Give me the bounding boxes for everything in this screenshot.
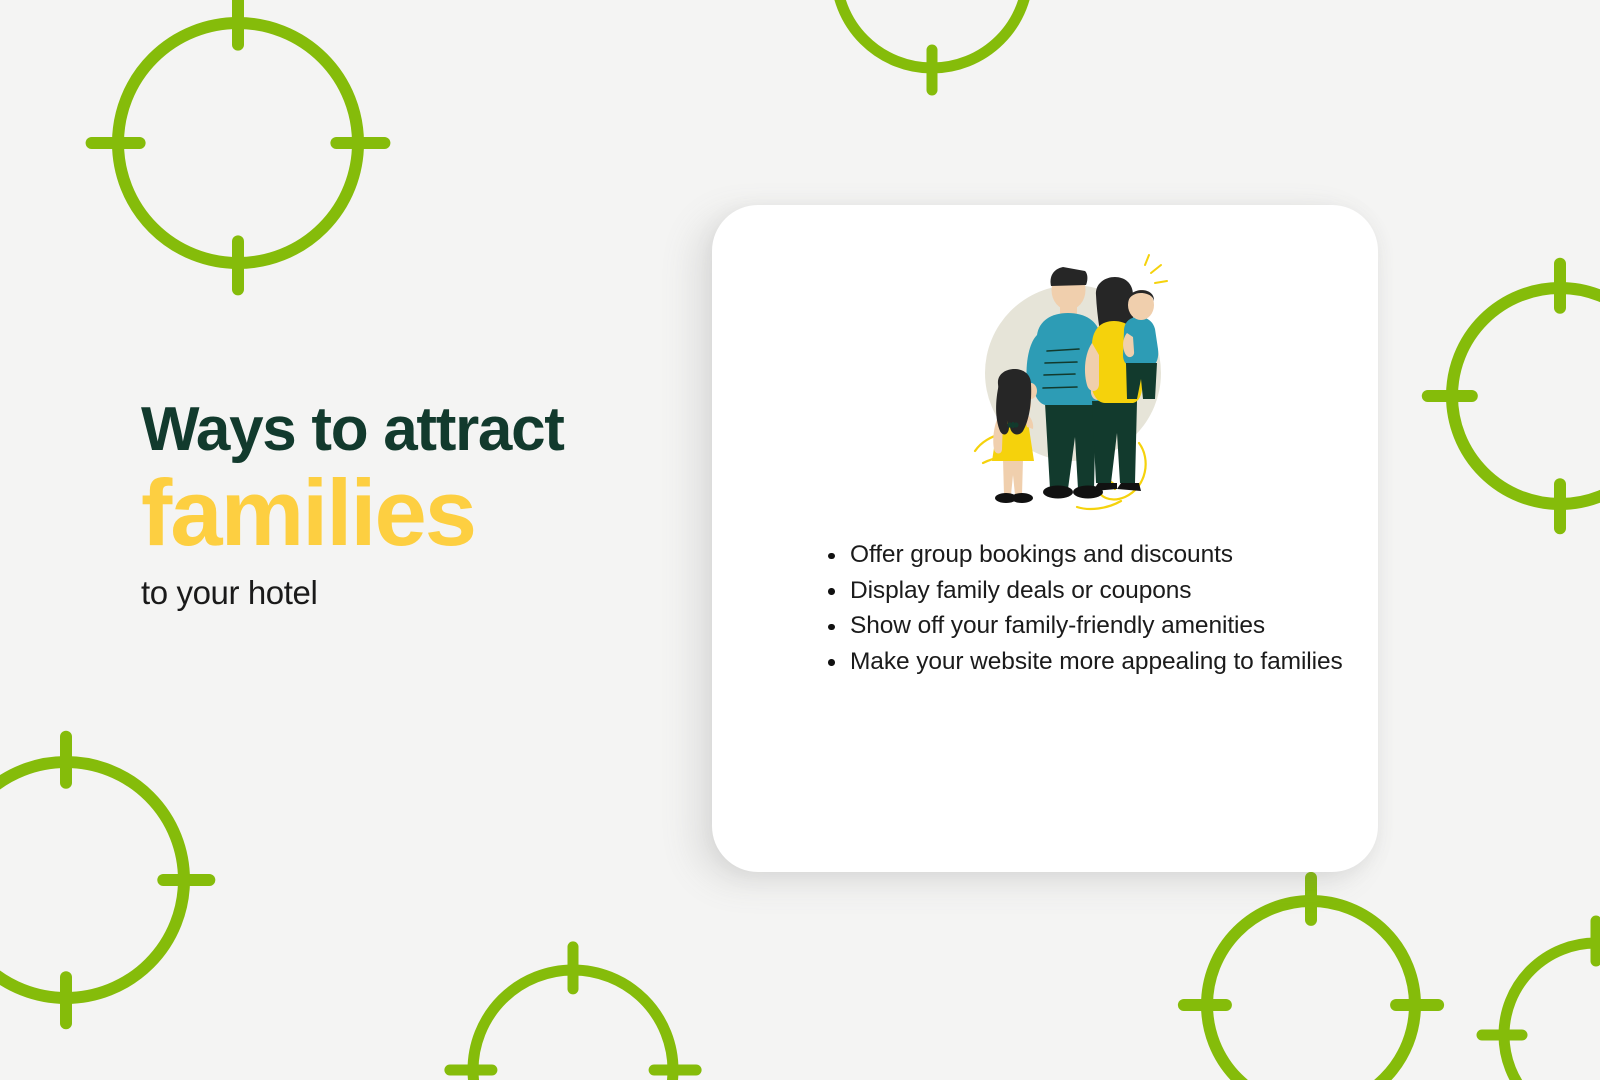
crosshair-target-icon <box>1153 847 1469 1080</box>
family-of-four-illustration <box>965 251 1185 536</box>
page-title: Ways to attract <box>141 392 701 468</box>
list-item: Show off your family-friendly amenities <box>850 609 1370 644</box>
crosshair-target-icon <box>58 0 418 323</box>
slide-canvas: Ways to attract families to your hotel <box>0 0 1600 1080</box>
crosshair-target-icon <box>1453 892 1600 1080</box>
benefits-list: Offer group bookings and discounts Displ… <box>820 538 1370 680</box>
list-item: Display family deals or coupons <box>850 574 1370 609</box>
crosshair-target-icon <box>785 0 1079 119</box>
headline-block: Ways to attract families to your hotel <box>141 392 701 615</box>
crosshair-target-icon <box>0 704 242 1056</box>
crosshair-target-icon <box>1396 232 1600 560</box>
headline-subtitle: to your hotel <box>141 571 701 615</box>
list-item: Offer group bookings and discounts <box>850 538 1370 573</box>
headline-highlight: families <box>141 462 701 564</box>
list-item: Make your website more appealing to fami… <box>850 645 1370 680</box>
crosshair-target-icon <box>420 917 726 1080</box>
promo-card: Offer group bookings and discounts Displ… <box>712 205 1378 872</box>
